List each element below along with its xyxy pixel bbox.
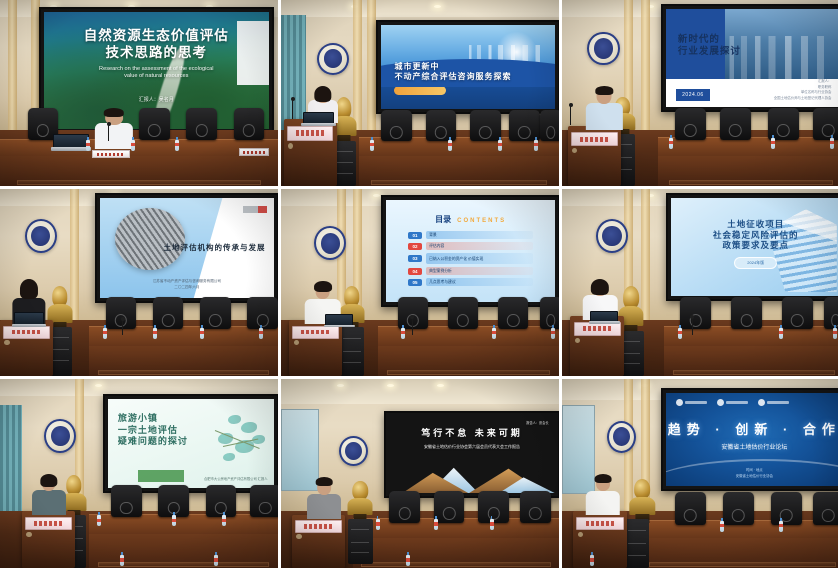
water-bottle	[669, 138, 673, 149]
toc-bar: 背景	[426, 231, 533, 239]
speaker-person	[585, 474, 622, 516]
chair	[723, 492, 754, 524]
partner-logo-icon	[758, 399, 789, 406]
university-emblem	[44, 419, 76, 453]
water-bottle	[551, 328, 555, 339]
laptop	[14, 312, 45, 327]
podium	[292, 515, 345, 568]
slide-content: 城市更新中 不动产综合评估咨询服务探索	[381, 25, 556, 108]
laptop-keyboard	[324, 325, 355, 328]
university-emblem	[596, 219, 628, 253]
water-bottle	[830, 138, 834, 149]
chair	[139, 108, 170, 140]
conference-table-front	[359, 156, 559, 186]
ceiling-light-icon	[337, 384, 344, 387]
speaker-person	[585, 86, 624, 131]
conference-room-scene: 旅游小镇 一宗土地评估 疑难问题的探讨 合肥市大公房地产资产评估有限公司 汇报人	[0, 379, 278, 568]
podium-name-plate	[571, 132, 618, 146]
slide-footer: 江苏省不动产资产评估与咨询服务有限公司 二〇二四年六月	[100, 278, 275, 292]
conference-room-scene: 自然资源生态价值评估 技术思路的思考 Research on the asses…	[0, 0, 278, 186]
speaker-hair	[314, 281, 332, 292]
collage-panel-5[interactable]: 目录 CONTENTS 01 背景 02 评估内容 03	[281, 189, 559, 376]
slide-content: 旅游小镇 一宗土地评估 疑难问题的探讨 合肥市大公房地产资产评估有限公司 汇报人	[108, 399, 274, 488]
chair	[720, 108, 751, 140]
projection-screen: 目录 CONTENTS 01 背景 02 评估内容 03	[386, 200, 555, 302]
water-bottle	[534, 140, 538, 151]
slide-content: 土地征收项目 社会稳定风险评估的 政策要求及要点 2024年版	[671, 198, 838, 297]
chair	[200, 297, 231, 329]
conference-table-front	[658, 156, 838, 186]
projection-screen: 土地评估机构的传承与发展 江苏省不动产资产评估与咨询服务有限公司 二〇二四年六月	[100, 198, 275, 299]
slide-footer: 汇报人：吴名月	[139, 97, 174, 104]
conference-table-front	[664, 346, 838, 376]
water-bottle	[370, 140, 374, 151]
podium-emblem-icon	[572, 148, 577, 153]
toc-bar: 评估内容	[426, 242, 533, 250]
ceiling-light-icon	[373, 194, 380, 197]
microphone-icon	[122, 320, 123, 335]
ceiling-light-icon	[387, 384, 394, 387]
photo-collage-grid: 自然资源生态价值评估 技术思路的思考 Research on the asses…	[0, 0, 838, 562]
table-panel-carving	[17, 180, 262, 185]
water-bottle	[490, 519, 494, 530]
toc-label: 典型案例分析	[429, 269, 452, 273]
partner-logo-icon	[717, 399, 748, 406]
chair	[675, 492, 706, 524]
speaker-hair	[20, 279, 38, 299]
chair	[470, 110, 501, 142]
water-bottle	[720, 521, 724, 532]
water-bottle	[153, 328, 157, 339]
slide-logo-row	[676, 399, 789, 406]
conference-room-scene: 趋势 · 创新 · 合作 安徽省土地估价行业论坛 时间 · 地点 安徽省土地估价…	[562, 379, 838, 568]
bust-body	[630, 497, 655, 515]
podium-name-plate	[25, 517, 72, 530]
chair	[111, 485, 142, 517]
projection-screen: 土地征收项目 社会稳定风险评估的 政策要求及要点 2024年版	[671, 198, 838, 297]
slide-title: 土地征收项目 社会稳定风险评估的 政策要求及要点	[713, 219, 799, 251]
podium	[570, 316, 624, 376]
ceiling-light-icon	[95, 384, 102, 387]
slide-subtitle: Research on the assessment of the ecolog…	[99, 66, 213, 81]
water-bottle	[103, 328, 107, 339]
toc-label: 评估内容	[429, 244, 444, 248]
podium-name-plate	[3, 326, 50, 339]
podium-emblem-icon	[26, 532, 31, 537]
water-bottle	[678, 328, 682, 339]
slide-pill-label: 2024年版	[734, 257, 777, 269]
collage-panel-3[interactable]: 新时代的 行业发展探讨 2024.06 汇报人： 职务职称 单位名称与行业协会 …	[562, 0, 838, 186]
chair	[250, 485, 278, 517]
leaf-shape	[241, 422, 257, 433]
toc-row: 02 评估内容	[408, 242, 533, 250]
microphone-icon	[108, 125, 109, 142]
projection-screen: 笃行不怠 未来可期 安徽省土地估价行业协会第六届会员代表大会工作报告 报告人：张…	[389, 416, 555, 493]
slide-title: 趋势 · 创新 · 合作	[668, 422, 838, 438]
projection-screen: 城市更新中 不动产综合评估咨询服务探索	[381, 25, 556, 108]
toc-label: 几点思考与建议	[429, 280, 456, 284]
slide-date-badge: 2024.06	[676, 89, 710, 101]
chair	[153, 297, 184, 329]
toc-row: 05 几点思考与建议	[408, 278, 533, 286]
water-bottle	[406, 555, 410, 566]
podium	[284, 119, 337, 186]
water-bottle	[492, 328, 496, 339]
toc-number: 03	[408, 255, 422, 262]
slide-subtitle: 安徽省土地估价行业协会第六届会员代表大会工作报告	[389, 444, 555, 449]
conference-table-front	[0, 156, 278, 186]
table-panel-carving	[387, 370, 550, 375]
window-curtain	[0, 405, 22, 526]
bust-body	[348, 498, 373, 515]
speaker-hair	[316, 477, 333, 486]
chair	[426, 110, 457, 142]
ceiling-strip	[281, 379, 559, 404]
water-bottle	[120, 555, 124, 566]
conference-room-scene: 城市更新中 不动产综合评估咨询服务探索	[281, 0, 559, 186]
laptop	[590, 311, 618, 324]
laptop-screen	[53, 134, 89, 148]
collage-panel-6[interactable]: 土地征收项目 社会稳定风险评估的 政策要求及要点 2024年版	[562, 189, 838, 376]
ceiling-strip	[281, 0, 559, 17]
microphone-icon	[292, 100, 293, 119]
slide-cta-pill	[394, 86, 446, 95]
water-bottle	[200, 328, 204, 339]
speaker-body	[586, 491, 620, 515]
chair	[247, 297, 278, 329]
slide-title: 旅游小镇 一宗土地评估 疑难问题的探讨	[118, 413, 188, 447]
podium	[0, 320, 53, 376]
water-bottle	[214, 555, 218, 566]
slide-content: 土地评估机构的传承与发展 江苏省不动产资产评估与咨询服务有限公司 二〇二四年六月	[100, 198, 275, 299]
slide-subtitle: 安徽省土地估价行业论坛	[721, 445, 787, 453]
chair	[234, 108, 265, 140]
projection-screen-frame: 土地征收项目 社会稳定风险评估的 政策要求及要点 2024年版	[666, 193, 838, 302]
chair	[389, 491, 420, 523]
laptop-keyboard	[301, 123, 335, 126]
slide-footer: 合肥市大公房地产资产评估有限公司 汇报人	[204, 476, 268, 481]
slide-leaf-cluster	[191, 410, 271, 479]
conference-table-front	[89, 534, 278, 568]
water-bottle	[779, 521, 783, 532]
partner-logo-icon	[676, 399, 707, 406]
chair	[520, 491, 551, 523]
projection-screen: 趋势 · 创新 · 合作 安徽省土地估价行业论坛 时间 · 地点 安徽省土地估价…	[666, 393, 838, 485]
conference-room-scene: 新时代的 行业发展探讨 2024.06 汇报人： 职务职称 单位名称与行业协会 …	[562, 0, 838, 186]
laptop-keyboard	[51, 147, 91, 151]
speaker-body	[32, 490, 66, 515]
podium-emblem-icon	[296, 534, 301, 539]
toc-row: 01 背景	[408, 231, 533, 239]
table-panel-carving	[649, 562, 836, 567]
water-bottle	[222, 515, 226, 526]
projection-screen-frame: 城市更新中 不动产综合评估咨询服务探索	[376, 20, 559, 113]
chair	[498, 297, 529, 329]
leaf-shape	[223, 453, 235, 461]
projection-screen-frame: 土地评估机构的传承与发展 江苏省不动产资产评估与咨询服务有限公司 二〇二四年六月	[95, 193, 278, 304]
water-bottle	[833, 328, 837, 339]
projection-screen-frame: 趋势 · 创新 · 合作 安徽省土地估价行业论坛 时间 · 地点 安徽省土地估价…	[661, 388, 838, 490]
podium	[289, 320, 342, 376]
water-bottle	[97, 515, 101, 526]
podium-emblem-icon	[288, 143, 293, 149]
water-bottle	[86, 140, 90, 151]
slide-content: 新时代的 行业发展探讨 2024.06 汇报人： 职务职称 单位名称与行业协会 …	[666, 9, 838, 107]
table-panel-carving	[361, 562, 550, 567]
chair	[106, 297, 137, 329]
chair	[731, 297, 762, 329]
toc-number: 05	[408, 279, 422, 286]
slide-meta: 时间 · 地点 安徽省土地估价行业协会	[666, 467, 838, 479]
speaker-body	[586, 103, 622, 130]
chair	[434, 491, 465, 523]
toc-bar: 典型案例分析	[426, 267, 533, 275]
slide-corporate-logo	[243, 206, 267, 213]
podium-name-plate	[292, 326, 339, 339]
chair	[186, 108, 217, 140]
university-emblem	[317, 43, 349, 75]
projection-screen: 新时代的 行业发展探讨 2024.06 汇报人： 职务职称 单位名称与行业协会 …	[666, 9, 838, 107]
toc-number: 01	[408, 232, 422, 239]
conference-table-front	[353, 538, 559, 568]
slide-title-cn: 目录	[435, 214, 451, 225]
speaker-hair	[40, 474, 57, 487]
slide-title: 城市更新中 不动产综合评估咨询服务探索	[394, 62, 511, 82]
toc-row: 04 典型案例分析	[408, 267, 533, 275]
laptop	[325, 314, 353, 327]
chair	[782, 297, 813, 329]
slide-toc-header: 目录 CONTENTS	[435, 214, 506, 225]
slide-title: 笃行不怠 未来可期	[389, 428, 555, 439]
speaker-body	[95, 123, 133, 148]
slide-title: 新时代的 行业发展探讨	[678, 34, 741, 58]
laptop-keyboard	[12, 324, 46, 327]
speaker-hair	[596, 86, 613, 95]
projection-screen-frame: 笃行不怠 未来可期 安徽省土地估价行业协会第六届会员代表大会工作报告 报告人：张…	[384, 411, 559, 498]
wall-pilaster	[641, 0, 650, 134]
water-bottle	[779, 328, 783, 339]
slide-title-en: CONTENTS	[457, 218, 506, 224]
slide-title: 自然资源生态价值评估 技术思路的思考	[84, 28, 229, 62]
slide-corner-label: 报告人：张会长	[526, 421, 548, 425]
collage-panel-1[interactable]: 自然资源生态价值评估 技术思路的思考 Research on the asses…	[0, 0, 278, 186]
slide-content: 目录 CONTENTS 01 背景 02 评估内容 03	[386, 200, 555, 302]
slide-content: 笃行不怠 未来可期 安徽省土地估价行业协会第六届会员代表大会工作报告 报告人：张…	[389, 416, 555, 493]
slide-green-block	[138, 470, 185, 482]
speaker-person	[31, 474, 67, 516]
water-bottle	[434, 519, 438, 530]
podium	[573, 511, 627, 568]
water-bottle	[401, 328, 405, 339]
toc-label: 背景	[429, 233, 437, 237]
name-tent	[239, 148, 269, 156]
water-bottle	[131, 140, 135, 151]
speaker-hair	[314, 86, 331, 102]
podium	[568, 126, 622, 186]
chair	[813, 108, 838, 140]
chair	[540, 297, 559, 329]
toc-bar: 几点思考与建议	[426, 278, 533, 286]
slide-circle-photo	[115, 208, 185, 270]
collage-panel-8[interactable]: 笃行不怠 未来可期 安徽省土地估价行业协会第六届会员代表大会工作报告 报告人：张…	[281, 379, 559, 568]
chair	[381, 110, 412, 142]
slide-content: 趋势 · 创新 · 合作 安徽省土地估价行业论坛 时间 · 地点 安徽省土地估价…	[666, 393, 838, 485]
toc-row: 03 已纳入公积金的资产化 价值实现	[408, 253, 533, 264]
conference-table-front	[89, 346, 278, 376]
water-bottle	[172, 515, 176, 526]
conference-room-scene: 土地征收项目 社会稳定风险评估的 政策要求及要点 2024年版	[562, 189, 838, 376]
bust-statue	[630, 479, 655, 522]
conference-room-scene: 笃行不怠 未来可期 安徽省土地估价行业协会第六届会员代表大会工作报告 报告人：张…	[281, 379, 559, 568]
speaker-hair	[591, 279, 609, 295]
speaker-body	[307, 494, 341, 519]
slide-meta: 汇报人： 职务职称 单位名称与行业协会 全国土地估价师与土地登记代理人协会	[774, 79, 832, 102]
projection-screen: 旅游小镇 一宗土地评估 疑难问题的探讨 合肥市大公房地产资产评估有限公司 汇报人	[108, 399, 274, 488]
chair	[813, 492, 838, 524]
water-bottle	[771, 138, 775, 149]
laptop	[53, 134, 89, 151]
chair	[771, 492, 802, 524]
university-emblem	[25, 219, 57, 253]
slide-title: 土地评估机构的传承与发展	[163, 243, 265, 252]
podium-emblem-icon	[294, 340, 299, 345]
ceiling-light-icon	[434, 5, 441, 8]
bust-statue	[348, 481, 373, 523]
projection-screen-frame: 目录 CONTENTS 01 背景 02 评估内容 03	[381, 195, 559, 307]
table-panel-carving	[98, 562, 268, 567]
microphone-icon	[412, 318, 413, 335]
toc-number: 04	[408, 268, 422, 275]
table-panel-carving	[371, 180, 547, 185]
microphone-icon	[570, 106, 571, 125]
podium	[22, 511, 75, 568]
collage-panel-2[interactable]: 城市更新中 不动产综合评估咨询服务探索	[281, 0, 559, 186]
chair	[448, 297, 479, 329]
table-panel-carving	[673, 370, 835, 375]
podium-name-plate	[576, 517, 623, 530]
wall-pilaster	[8, 0, 17, 134]
water-bottle	[376, 519, 380, 530]
university-emblem	[587, 32, 619, 66]
slide-skyline-photo	[725, 9, 838, 80]
podium-name-plate	[574, 322, 621, 336]
collage-panel-7[interactable]: 旅游小镇 一宗土地评估 疑难问题的探讨 合肥市大公房地产资产评估有限公司 汇报人	[0, 379, 278, 568]
laptop-keyboard	[589, 321, 621, 324]
conference-table-front	[378, 346, 559, 376]
water-bottle	[498, 140, 502, 151]
water-bottle	[259, 328, 263, 339]
toc-number: 02	[408, 243, 422, 250]
chair	[206, 485, 237, 517]
collage-panel-9[interactable]: 趋势 · 创新 · 合作 安徽省土地估价行业论坛 时间 · 地点 安徽省土地估价…	[562, 379, 838, 568]
podium-emblem-icon	[575, 338, 580, 343]
toc-bar: 已纳入公积金的资产化 价值实现	[426, 253, 533, 264]
equipment-rack	[624, 519, 649, 568]
chair	[824, 297, 838, 329]
podium-emblem-icon	[4, 340, 9, 345]
water-bottle	[448, 140, 452, 151]
podium-emblem-icon	[578, 532, 583, 537]
name-tent	[92, 150, 130, 158]
water-bottle	[590, 555, 594, 566]
equipment-rack	[339, 327, 364, 376]
conference-room-scene: 目录 CONTENTS 01 背景 02 评估内容 03	[281, 189, 559, 376]
projection-screen-frame: 旅游小镇 一宗土地评估 疑难问题的探讨 合肥市大公房地产资产评估有限公司 汇报人	[103, 394, 278, 493]
conference-table-front	[641, 538, 838, 568]
equipment-rack	[348, 519, 373, 564]
speaker-person	[306, 477, 342, 519]
laptop	[303, 112, 334, 127]
ceiling-light-icon	[437, 384, 444, 387]
chair	[540, 110, 559, 142]
podium-name-plate	[295, 520, 342, 533]
table-panel-carving	[98, 370, 268, 375]
toc-label: 已纳入公积金的资产化 价值实现	[429, 257, 483, 261]
chair	[675, 108, 706, 140]
slide-white-panel	[237, 21, 268, 85]
chair	[680, 297, 711, 329]
speaker-person	[92, 108, 136, 149]
microphone-icon	[692, 318, 693, 335]
chair	[478, 491, 509, 523]
leaf-shape	[228, 415, 241, 424]
speaker-hair	[104, 108, 124, 117]
table-panel-carving	[669, 180, 833, 185]
conference-room-scene: 土地评估机构的传承与发展 江苏省不动产资产评估与咨询服务有限公司 二〇二四年六月	[0, 189, 278, 376]
collage-panel-4[interactable]: 土地评估机构的传承与发展 江苏省不动产资产评估与咨询服务有限公司 二〇二四年六月	[0, 189, 278, 376]
projection-screen-frame: 新时代的 行业发展探讨 2024.06 汇报人： 职务职称 单位名称与行业协会 …	[661, 4, 838, 112]
podium-name-plate	[287, 126, 334, 141]
speaker-hair	[594, 474, 611, 483]
water-bottle	[175, 140, 179, 151]
